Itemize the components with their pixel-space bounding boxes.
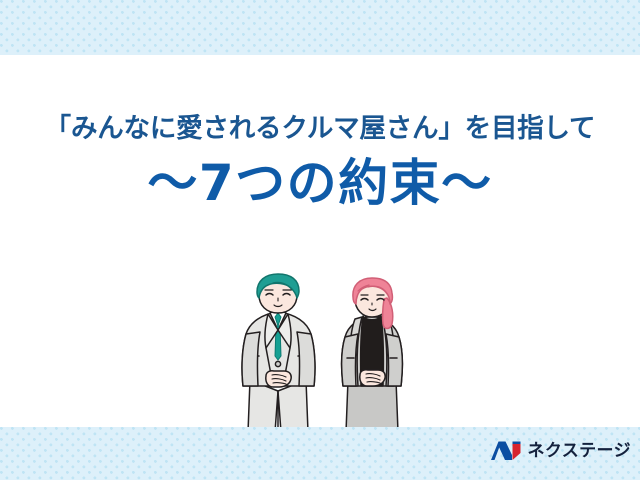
two-bowing-staff-illustration [232,272,422,432]
headline-secondary-text: 〜7つの約束〜 [0,156,640,210]
nextage-wordmark: ネクステージ [527,443,631,460]
top-dotted-band [0,0,640,55]
headline-primary-text: 「みんなに愛されるクルマ屋さん」を目指して [0,112,640,145]
headline-block: 「みんなに愛されるクルマ屋さん」を目指して 〜7つの約束〜 [0,112,640,210]
nextage-n-mark [491,440,521,462]
promotional-banner: 「みんなに愛されるクルマ屋さん」を目指して 〜7つの約束〜 [0,0,640,480]
nextage-logo: ネクステージ [491,440,631,462]
female-staff-figure [342,278,403,432]
male-staff-figure [242,274,315,432]
